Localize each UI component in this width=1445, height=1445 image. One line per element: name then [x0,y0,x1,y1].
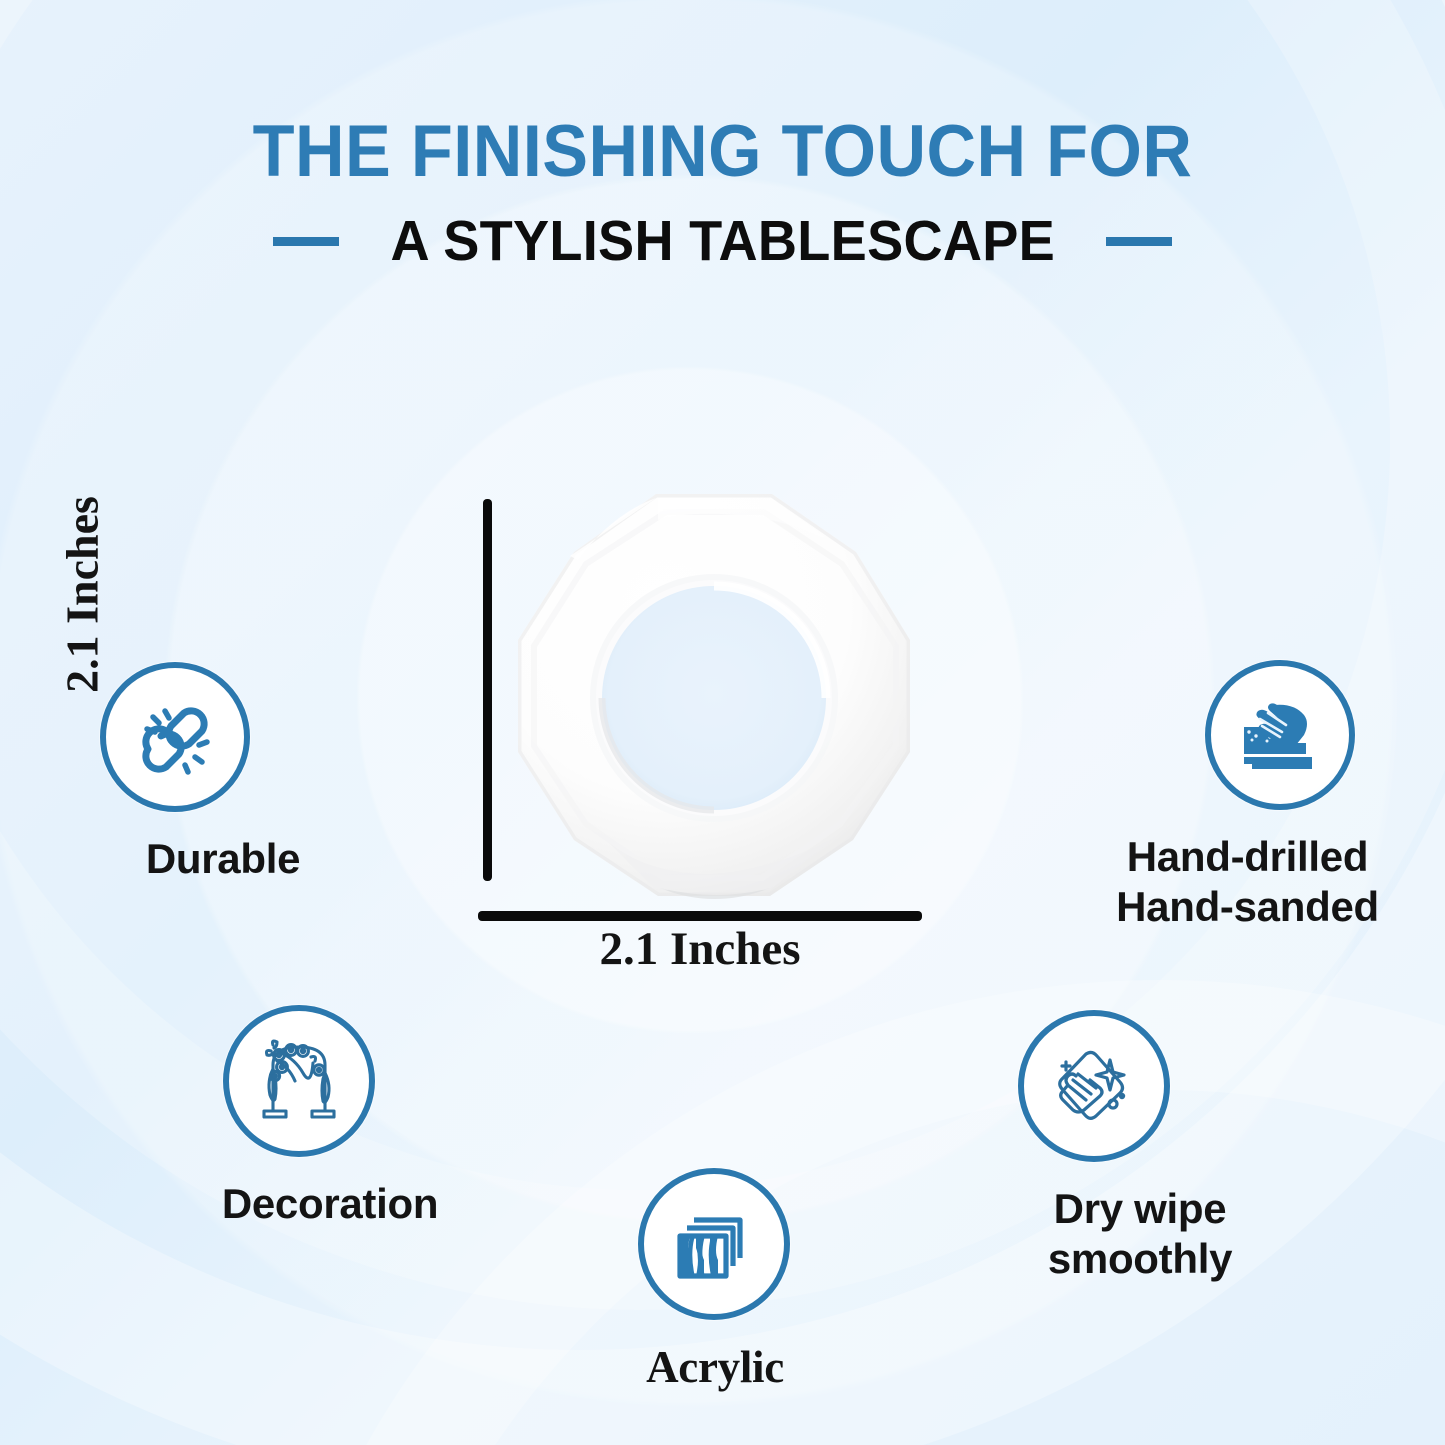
product-napkin-ring-image [508,490,920,902]
wedding-arch-icon [251,1033,347,1129]
hand-wiping-cloth-icon [1046,1038,1142,1134]
headline-secondary-row: A STYLISH TABLESCAPE [0,210,1445,272]
feature-decoration-badge [223,1005,375,1157]
headline-primary: THE FINISHING TOUCH FOR [43,112,1401,192]
feature-durable[interactable]: Durable [28,662,418,884]
dimension-line-vertical [483,499,492,881]
headline-secondary: A STYLISH TABLESCAPE [390,210,1055,272]
chain-link-icon [129,691,221,783]
feature-handmade-badge [1205,660,1355,810]
feature-acrylic[interactable]: Acrylic [560,1168,870,1392]
feature-acrylic-badge [638,1168,790,1320]
feature-acrylic-label: Acrylic [560,1342,870,1392]
header: THE FINISHING TOUCH FOR A STYLISH TABLES… [0,112,1445,272]
feature-decoration-label: Decoration [120,1179,540,1229]
feature-drywipe[interactable]: Dry wipe smoothly [930,1010,1350,1284]
infographic-canvas: THE FINISHING TOUCH FOR A STYLISH TABLES… [0,0,1445,1445]
feature-drywipe-label: Dry wipe smoothly [930,1184,1350,1284]
feature-durable-badge [100,662,250,812]
dimension-label-width: 2.1 Inches [478,922,922,976]
feature-durable-label: Durable [28,834,418,884]
feature-handmade-label: Hand-drilled Hand-sanded [1050,832,1445,932]
product-image-block [430,480,950,980]
hand-sanding-icon [1232,687,1328,783]
feature-handmade[interactable]: Hand-drilled Hand-sanded [1050,660,1445,932]
dimension-line-horizontal [478,911,922,921]
dash-right-icon [1106,237,1172,246]
dash-left-icon [273,237,339,246]
acrylic-sheets-icon [668,1198,760,1290]
feature-decoration[interactable]: Decoration [120,1005,540,1229]
feature-drywipe-badge [1018,1010,1170,1162]
